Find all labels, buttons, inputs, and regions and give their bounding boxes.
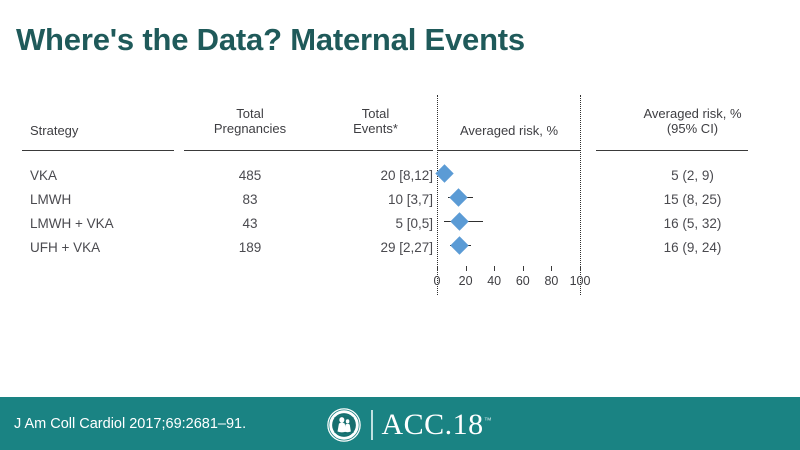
column-header-total-pregnancies-line2: Pregnancies	[190, 121, 310, 136]
axis-tick-label: 0	[422, 274, 452, 288]
axis-tick	[466, 266, 467, 271]
table-row-risk-ci: 5 (2, 9)	[600, 167, 785, 185]
page-title: Where's the Data? Maternal Events	[16, 22, 525, 58]
risk-marker-diamond	[435, 164, 453, 182]
column-header-averaged-risk-plot: Averaged risk, %	[443, 123, 575, 138]
axis-tick-label: 60	[508, 274, 538, 288]
table-row-total-events: 5 [0,5]	[313, 215, 433, 233]
risk-marker-diamond	[449, 188, 467, 206]
reference-line-zero	[437, 95, 438, 295]
header-rule-numeric-columns	[184, 150, 433, 151]
table-row-total-pregnancies: 83	[190, 191, 310, 209]
column-header-averaged-risk-ci-line2: (95% CI)	[600, 121, 785, 136]
axis-tick	[437, 266, 438, 271]
column-header-total-pregnancies-line1: Total	[190, 106, 310, 121]
header-rule-strategy	[22, 150, 174, 151]
column-header-total-events-line1: Total	[318, 106, 433, 121]
data-table: Strategy Total Pregnancies Total Events*…	[0, 95, 800, 315]
table-row-total-pregnancies: 485	[190, 167, 310, 185]
confidence-interval-line	[444, 221, 483, 222]
axis-tick	[580, 266, 581, 271]
table-row-risk-ci: 16 (5, 32)	[600, 215, 785, 233]
table-row-total-events: 10 [3,7]	[313, 191, 433, 209]
reference-line-hundred	[580, 95, 581, 295]
acc-wordmark-text: ACC.18	[382, 408, 484, 441]
table-row-total-pregnancies: 189	[190, 239, 310, 257]
column-header-strategy: Strategy	[30, 123, 170, 138]
axis-tick	[523, 266, 524, 271]
table-row-risk-ci: 15 (8, 25)	[600, 191, 785, 209]
risk-marker-diamond	[451, 236, 469, 254]
table-row-risk-ci: 16 (9, 24)	[600, 239, 785, 257]
table-row-strategy: LMWH	[30, 191, 180, 209]
header-rule-ci	[596, 150, 748, 151]
trademark-icon: ™	[484, 416, 493, 425]
axis-tick-label: 20	[451, 274, 481, 288]
confidence-interval-line	[450, 245, 471, 246]
table-row-strategy: VKA	[30, 167, 180, 185]
acc-logo-group: ACC.18™	[326, 406, 492, 444]
axis-tick-label: 80	[536, 274, 566, 288]
axis-tick	[494, 266, 495, 271]
axis-tick-label: 40	[479, 274, 509, 288]
logo-divider	[371, 410, 373, 440]
table-row-total-pregnancies: 43	[190, 215, 310, 233]
confidence-interval-line	[448, 197, 472, 198]
table-row-strategy: UFH + VKA	[30, 239, 180, 257]
axis-tick	[551, 266, 552, 271]
citation-text: J Am Coll Cardiol 2017;69:2681–91.	[14, 416, 246, 432]
acc-seal-icon	[326, 407, 362, 443]
table-row-total-events: 29 [2,27]	[313, 239, 433, 257]
confidence-interval-line	[440, 173, 450, 174]
table-row-strategy: LMWH + VKA	[30, 215, 180, 233]
column-header-averaged-risk-ci-line1: Averaged risk, %	[600, 106, 785, 121]
table-row-total-events: 20 [8,12]	[313, 167, 433, 185]
risk-marker-diamond	[451, 212, 469, 230]
column-header-total-events-line2: Events*	[318, 121, 433, 136]
axis-tick-label: 100	[565, 274, 595, 288]
acc-wordmark: ACC.18™	[382, 408, 493, 442]
header-rule-plot	[437, 150, 581, 151]
